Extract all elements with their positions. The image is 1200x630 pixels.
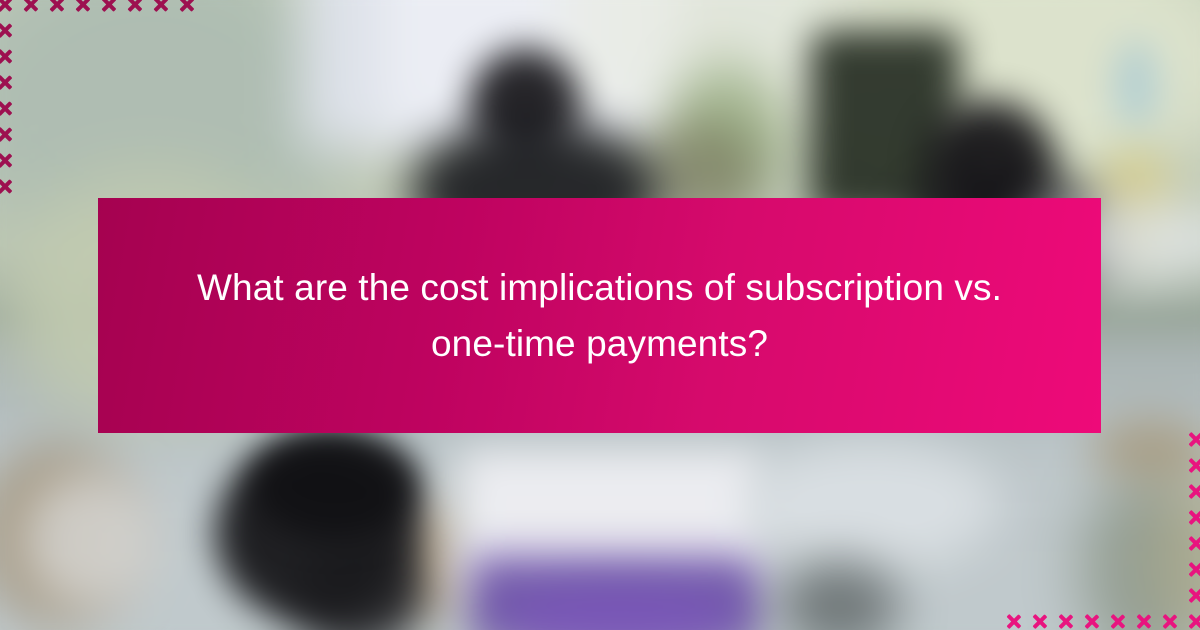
question-text: What are the cost implications of subscr…: [185, 260, 1015, 372]
question-banner: What are the cost implications of subscr…: [98, 198, 1101, 433]
question-card: What are the cost implications of subscr…: [0, 0, 1200, 630]
